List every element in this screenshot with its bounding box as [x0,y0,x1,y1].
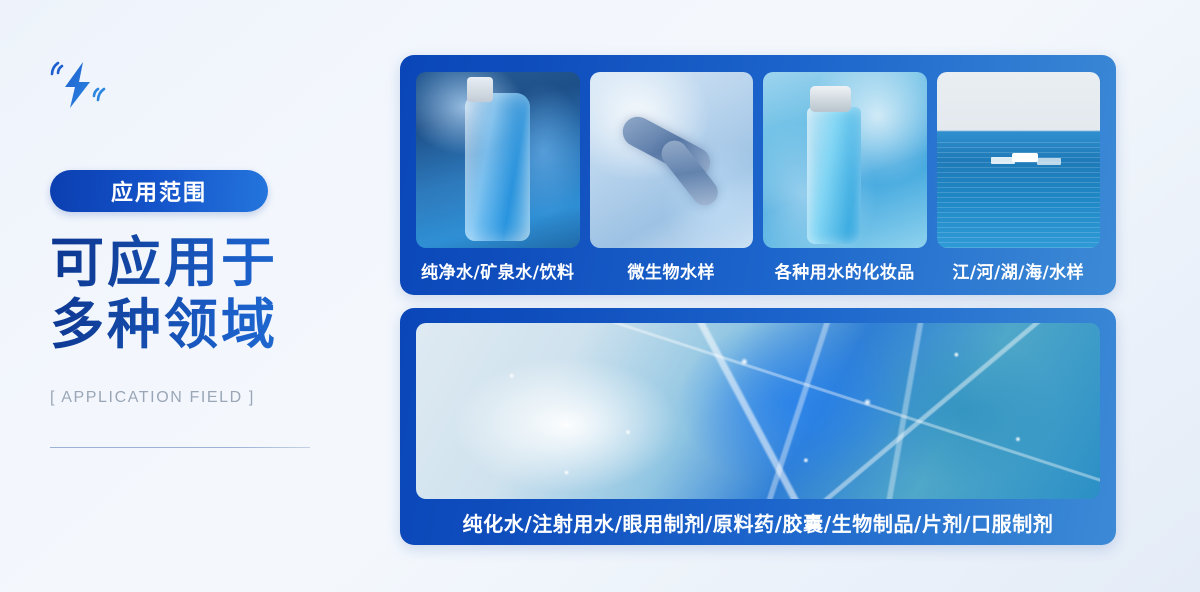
banner-label: 纯化水/注射用水/眼用制剂/原料药/胶囊/生物制品/片剂/口服制剂 [416,499,1100,545]
thumbnail-label-3: 各种用水的化妆品 [763,258,927,283]
sea-boat-photo [937,72,1101,248]
thumbnail-row [416,72,1100,248]
section-badge-label: 应用范围 [111,175,207,207]
application-card-bottom: 纯化水/注射用水/眼用制剂/原料药/胶囊/生物制品/片剂/口服制剂 [400,308,1116,545]
pharmaceutical-network-photo [416,323,1100,499]
divider [50,447,310,448]
bacteria-microscope-photo [590,72,754,248]
thumbnail-label-4: 江/河/湖/海/水样 [937,258,1101,283]
lightning-signal-icon [50,60,380,110]
lightning-signal-icon-svg [50,60,108,110]
application-card-top: 纯净水/矿泉水/饮料 微生物水样 各种用水的化妆品 江/河/湖/海/水样 [400,55,1116,295]
page-title: 可应用于 多种领域 [50,232,380,355]
left-panel: 应用范围 可应用于 多种领域 [ APPLICATION FIELD ] [50,60,380,480]
thumbnail-label-2: 微生物水样 [590,258,754,283]
cosmetic-bottle-photo [763,72,927,248]
page-title-line-1: 可应用于 [50,232,380,292]
cards-region: 纯净水/矿泉水/饮料 微生物水样 各种用水的化妆品 江/河/湖/海/水样 纯化水… [400,55,1116,545]
page-title-line-2: 多种领域 [50,294,380,354]
water-bottles-photo [416,72,580,248]
section-badge: 应用范围 [50,170,268,212]
thumbnail-label-row: 纯净水/矿泉水/饮料 微生物水样 各种用水的化妆品 江/河/湖/海/水样 [416,248,1100,292]
page-subtitle: [ APPLICATION FIELD ] [50,389,380,407]
thumbnail-label-1: 纯净水/矿泉水/饮料 [416,258,580,283]
